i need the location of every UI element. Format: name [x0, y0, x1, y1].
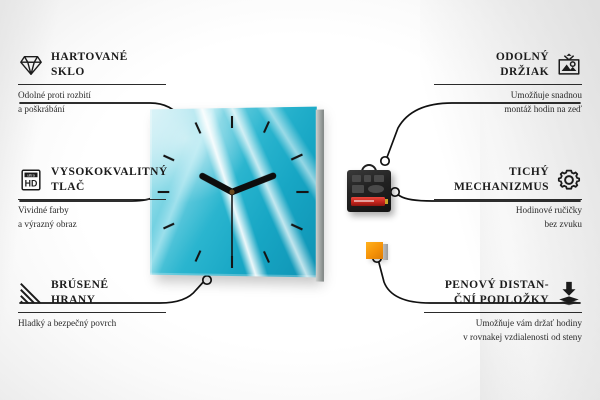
feature-divider: [18, 312, 166, 313]
feature-subtitle-line: Odolné proti rozbití: [18, 89, 166, 102]
feature-title-line: MECHANIZMUS: [454, 180, 549, 195]
feature-title: HARTOVANÉ SKLO: [51, 50, 128, 79]
feature-subtitle: Umožňuje vám držať hodiny v rovnakej vzd…: [424, 317, 582, 343]
feature-title-line: BRÚSENÉ: [51, 278, 108, 293]
product-glass-clock: [150, 107, 317, 278]
feature-title: PENOVÝ DISTAN- ČNÍ PODLOŽKY: [445, 278, 549, 307]
clock-dial: [150, 107, 317, 278]
feature-callout-high-quality-print: ultra HD VYSOKOKVALITNÝ TLAČ Vividné far…: [18, 165, 166, 231]
feature-title: TICHÝ MECHANIZMUS: [454, 165, 549, 194]
feature-divider: [18, 84, 166, 85]
connector-endpoint-right-1: [381, 157, 389, 165]
feature-title: ODOLNÝ DRŽIAK: [496, 50, 549, 79]
product-foam-spacer-pad: [366, 242, 383, 259]
feature-title-line: HARTOVANÉ: [51, 50, 128, 65]
feature-subtitle: Hladký a bezpečný povrch: [18, 317, 166, 330]
clock-center-cap: [229, 189, 234, 194]
feature-divider: [424, 312, 582, 313]
feature-title-line: ODOLNÝ: [496, 50, 549, 65]
feature-subtitle: Odolné proti rozbití a poškrábání: [18, 89, 166, 115]
feature-title-line: HRANY: [51, 293, 108, 308]
feature-callout-durable-hanger: ODOLNÝ DRŽIAK Umožňuje snadnou montáž ho…: [434, 50, 582, 116]
clock-glass-edge: [316, 110, 324, 282]
feature-subtitle-line: a výrazný obraz: [18, 218, 166, 231]
brushed-edges-icon: [18, 280, 44, 306]
feature-divider: [18, 199, 166, 200]
feature-subtitle: Umožňuje snadnou montáž hodin na zeď: [434, 89, 582, 115]
mechanism-battery: [351, 197, 385, 206]
feature-subtitle: Vividné farby a výrazný obraz: [18, 204, 166, 230]
feature-title-line: VYSOKOKVALITNÝ: [51, 165, 168, 180]
diamond-icon: [18, 52, 44, 78]
feature-title: VYSOKOKVALITNÝ TLAČ: [51, 165, 168, 194]
feature-callout-silent-mechanism: TICHÝ MECHANIZMUS Hodinové ručičky bez z…: [434, 165, 582, 231]
mechanism-body: [347, 170, 391, 212]
feature-divider: [434, 84, 582, 85]
svg-text:ultra: ultra: [27, 172, 35, 177]
feature-callout-brushed-edges: BRÚSENÉ HRANY Hladký a bezpečný povrch: [18, 278, 166, 331]
product-clock-mechanism: [347, 170, 391, 212]
feature-subtitle-line: bez zvuku: [434, 218, 582, 231]
svg-text:HD: HD: [25, 178, 38, 188]
feature-subtitle-line: a poškrábání: [18, 103, 166, 116]
ultra-hd-badge-icon: ultra HD: [18, 167, 44, 193]
feature-divider: [434, 199, 582, 200]
feature-subtitle: Hodinové ručičky bez zvuku: [434, 204, 582, 230]
feature-subtitle-line: Umožňuje vám držať hodiny: [424, 317, 582, 330]
connector-endpoint-right-2: [391, 188, 399, 196]
feature-callout-foam-spacers: PENOVÝ DISTAN- ČNÍ PODLOŽKY Umožňuje vám…: [424, 278, 582, 344]
infographic-canvas: HARTOVANÉ SKLO Odolné proti rozbití a po…: [0, 0, 600, 400]
feature-subtitle-line: Hladký a bezpečný povrch: [18, 317, 166, 330]
feature-subtitle-line: Hodinové ručičky: [434, 204, 582, 217]
feature-title-line: ČNÍ PODLOŽKY: [445, 293, 549, 308]
clock-hand-minute: [232, 176, 273, 192]
feature-title-line: TLAČ: [51, 180, 168, 195]
gear-icon: [556, 167, 582, 193]
feature-subtitle-line: Vividné farby: [18, 204, 166, 217]
clock-hand-hour: [202, 176, 232, 192]
feature-title-line: TICHÝ: [454, 165, 549, 180]
feature-title-line: DRŽIAK: [496, 65, 549, 80]
feature-callout-tempered-glass: HARTOVANÉ SKLO Odolné proti rozbití a po…: [18, 50, 166, 116]
feature-title: BRÚSENÉ HRANY: [51, 278, 108, 307]
connector-endpoint-left-3: [203, 276, 211, 284]
feature-subtitle-line: v rovnakej vzdialenosti od steny: [424, 331, 582, 344]
picture-hanger-icon: [556, 52, 582, 78]
feature-title-line: SKLO: [51, 65, 128, 80]
foam-spacer-icon: [556, 280, 582, 306]
feature-subtitle-line: Umožňuje snadnou: [434, 89, 582, 102]
feature-title-line: PENOVÝ DISTAN-: [445, 278, 549, 293]
feature-subtitle-line: montáž hodin na zeď: [434, 103, 582, 116]
